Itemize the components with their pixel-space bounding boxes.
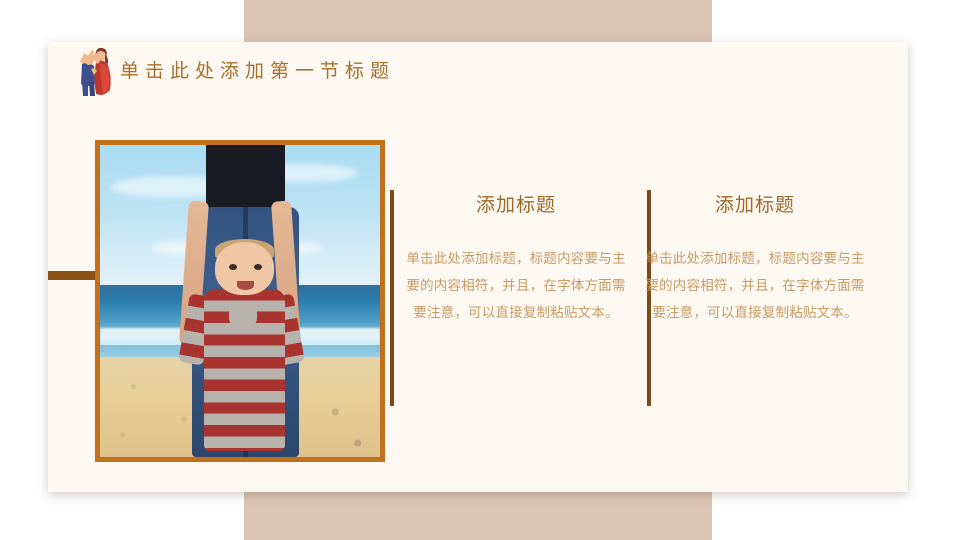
parent-and-child-illustration-icon	[70, 44, 122, 100]
column-body: 单击此处添加标题，标题内容要与主要的内容相符，并且，在字体方面需要注意，可以直接…	[400, 245, 632, 326]
slide-header: 单击此处添加第一节标题	[48, 42, 908, 104]
child-eye	[229, 264, 237, 270]
photo-frame	[95, 140, 385, 462]
column-body: 单击此处添加标题，标题内容要与主要的内容相符，并且，在字体方面需要注意，可以直接…	[639, 245, 871, 326]
column-title: 添加标题	[639, 190, 871, 217]
beach-family-photo	[100, 145, 380, 457]
text-column-1: 添加标题 单击此处添加标题，标题内容要与主要的内容相符，并且，在字体方面需要注意…	[400, 190, 632, 408]
text-column-2: 添加标题 单击此处添加标题，标题内容要与主要的内容相符，并且，在字体方面需要注意…	[639, 190, 871, 408]
page-title: 单击此处添加第一节标题	[120, 56, 395, 83]
child-eye	[254, 264, 262, 270]
column-title: 添加标题	[400, 190, 632, 217]
child-collar	[229, 307, 257, 329]
left-accent-bar	[48, 271, 100, 280]
column-divider-left	[390, 190, 394, 406]
content-card: 单击此处添加第一节标题	[48, 42, 908, 492]
child-mouth	[237, 281, 254, 290]
slide-canvas: 单击此处添加第一节标题	[0, 0, 960, 540]
